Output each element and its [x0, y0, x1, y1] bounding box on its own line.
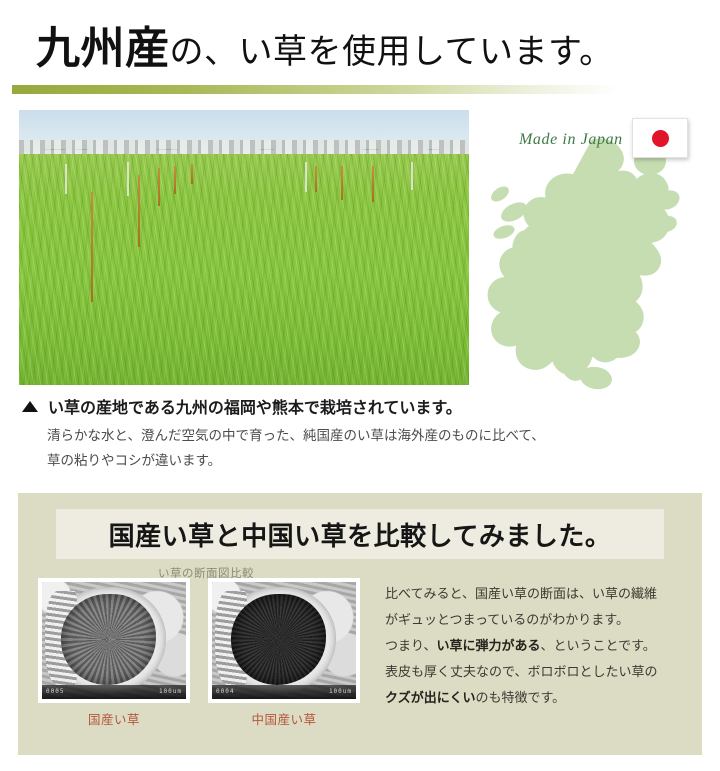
- sem-scale-right: 100um: [329, 688, 352, 695]
- sem-scale-strip: 0005 100um: [42, 685, 186, 699]
- sem-image-chinese: 0004 100um: [212, 582, 356, 699]
- comparison-heading-band: 国産い草と中国い草を比較してみました。: [56, 509, 664, 559]
- photo-stake: [158, 168, 160, 206]
- photo-post: [305, 162, 307, 192]
- sem-scale-left: 0005: [46, 688, 64, 695]
- comparison-heading: 国産い草と中国い草を比較してみました。: [109, 516, 612, 553]
- sem-fiber-core: [61, 594, 156, 685]
- photo-post: [411, 162, 413, 190]
- comparison-body-emphasis: い草に弾力がある: [436, 638, 540, 653]
- photo-caption-body-line-2: 草の粘りやコシが違います。: [47, 449, 687, 474]
- photo-post: [127, 162, 129, 196]
- igusa-field-photo: [19, 110, 469, 385]
- photo-stake: [91, 192, 93, 302]
- photo-rush-field: [19, 154, 469, 385]
- photo-caption-headline: い草の産地である九州の福岡や熊本で栽培されています。: [22, 394, 462, 418]
- photo-stake: [372, 166, 374, 202]
- comparison-body-line: つまり、い草に弾力がある、ということです。: [385, 633, 685, 659]
- chinese-igusa-cross-section: 0004 100um: [208, 578, 360, 703]
- comparison-body-line: 比べてみると、国産い草の断面は、い草の繊維: [385, 581, 685, 607]
- sem-scale-right: 100um: [159, 688, 182, 695]
- photo-post: [65, 164, 67, 194]
- photo-stake: [341, 166, 343, 200]
- page-title-lead: 九州産: [36, 24, 170, 73]
- kyushu-map: [470, 128, 710, 406]
- made-in-japan-label: Made in Japan: [519, 131, 623, 149]
- comparison-body-line: 表皮も厚く丈夫なので、ボロボロとしたい草の: [385, 659, 685, 685]
- comparison-panel: 国産い草と中国い草を比較してみました。 い草の断面図比較 0005 100um …: [18, 493, 702, 755]
- flag-red-disc: [652, 130, 669, 147]
- domestic-igusa-cross-section: 0005 100um: [38, 578, 190, 703]
- japan-flag-icon: [632, 118, 688, 158]
- comparison-body-text: 比べてみると、国産い草の断面は、い草の繊維がギュッとつまっているのがわかります。…: [385, 581, 685, 711]
- photo-caption-body: 清らかな水と、澄んだ空気の中で育った、純国産のい草は海外産のものに比べて、 草の…: [47, 424, 687, 474]
- photo-stake: [315, 166, 317, 192]
- comparison-body-text-run: つまり、: [385, 638, 436, 653]
- page-title-rest: の、い草を使用しています。: [170, 34, 614, 71]
- comparison-body-line: がギュッとつまっているのがわかります。: [385, 607, 685, 633]
- comparison-body-emphasis: クズが出にくい: [385, 690, 475, 705]
- comparison-body-text-run: 、ということです。: [541, 638, 656, 653]
- photo-stake: [138, 175, 140, 247]
- title-divider-bar: [12, 85, 620, 94]
- triangle-bullet-icon: [22, 401, 38, 412]
- sem-scale-left: 0004: [216, 688, 234, 695]
- comparison-body-line: クズが出にくいのも特徴です。: [385, 685, 685, 711]
- page-title: 九州産の、い草を使用しています。: [36, 24, 614, 75]
- chinese-igusa-label: 中国産い草: [208, 709, 360, 728]
- sem-fiber-core: [231, 594, 326, 685]
- domestic-igusa-label: 国産い草: [38, 709, 190, 728]
- photo-caption-body-line-1: 清らかな水と、澄んだ空気の中で育った、純国産のい草は海外産のものに比べて、: [47, 424, 687, 449]
- photo-stake: [174, 166, 176, 194]
- photo-caption-headline-text: い草の産地である九州の福岡や熊本で栽培されています。: [48, 394, 462, 418]
- photo-stake: [191, 164, 193, 184]
- sem-image-domestic: 0005 100um: [42, 582, 186, 699]
- sem-scale-strip: 0004 100um: [212, 685, 356, 699]
- comparison-body-text-run: のも特徴です。: [475, 690, 565, 705]
